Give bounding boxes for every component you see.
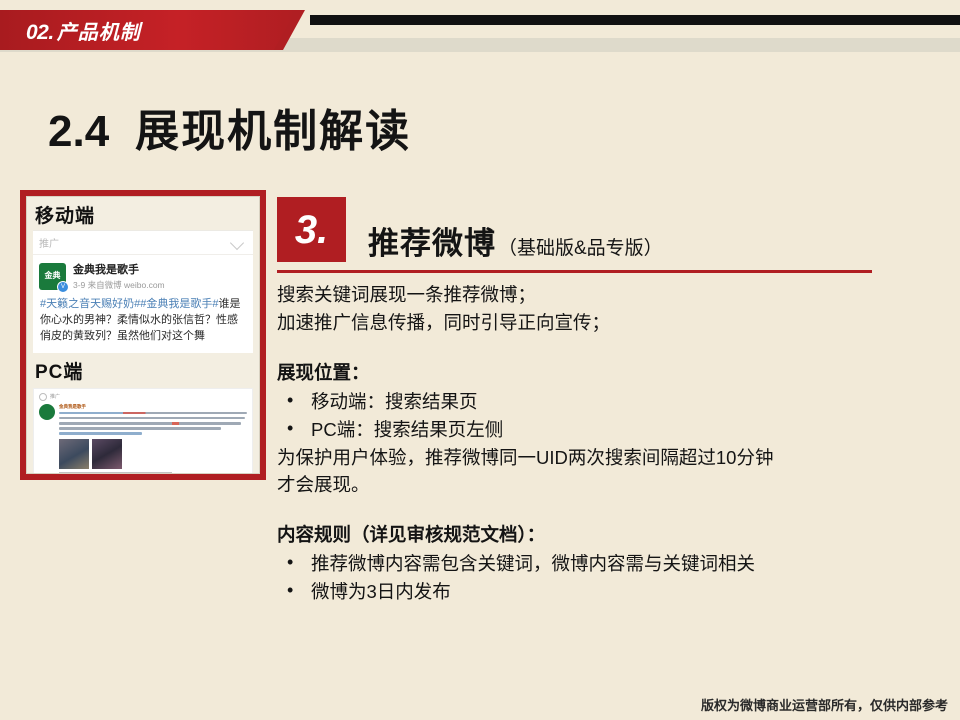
pc-avatar <box>39 404 55 420</box>
position-block-title: 展现位置： <box>277 359 917 385</box>
verified-badge-icon: V <box>57 281 69 293</box>
section-heading: 推荐微博 （基础版&品专版） <box>368 218 663 263</box>
chevron-down-icon <box>230 235 244 249</box>
pc-heading: PC端 <box>27 353 259 386</box>
pc-promo-label: 推广 <box>50 393 60 400</box>
header-label: 02. 产品机制 <box>26 16 141 45</box>
page-title-number: 2.4 <box>48 107 109 157</box>
pc-text-line <box>59 412 247 415</box>
pc-text-line <box>59 427 221 430</box>
section-body: 搜索关键词展现一条推荐微博； 加速推广信息传播，同时引导正向宣传； 展现位置： … <box>277 281 917 606</box>
pc-weibo-card: 推广 金典我是歌手 <box>33 388 253 474</box>
pc-text-line <box>59 422 241 425</box>
promo-dot-icon <box>39 393 47 401</box>
pc-post-row: 金典我是歌手 <box>39 404 247 474</box>
page-title-text: 展现机制解读 <box>135 95 411 159</box>
screenshot-panel: 移动端 推广 金典 V 金典我是歌手 3-9 来自微博 weibo.com #天… <box>20 190 266 480</box>
slide-header: 02. 产品机制 <box>0 0 960 60</box>
header-black-bar <box>310 15 960 25</box>
list-item: PC端：搜索结果页左侧 <box>277 416 917 444</box>
intro-line-2: 加速推广信息传播，同时引导正向宣传； <box>277 309 917 337</box>
pc-post-meta <box>59 472 172 474</box>
page-title: 2.4 展现机制解读 <box>48 95 411 159</box>
section-number: 3. <box>295 210 328 250</box>
mobile-heading: 移动端 <box>27 197 259 230</box>
pc-text-line <box>59 417 245 420</box>
pc-user-name: 金典我是歌手 <box>59 404 247 410</box>
position-note-line-2: 才会展现。 <box>277 471 917 499</box>
list-item: 移动端：搜索结果页 <box>277 388 917 416</box>
mobile-weibo-card: 推广 金典 V 金典我是歌手 3-9 来自微博 weibo.com #天籁之音天… <box>33 230 253 353</box>
list-item: 微博为3日内发布 <box>277 578 917 606</box>
pc-text-line <box>59 432 142 435</box>
mobile-user-row: 金典 V 金典我是歌手 3-9 来自微博 weibo.com <box>33 255 253 293</box>
screenshot-inner: 移动端 推广 金典 V 金典我是歌手 3-9 来自微博 weibo.com #天… <box>26 196 260 474</box>
pc-thumbnail <box>92 439 122 469</box>
pc-post-body: 金典我是歌手 <box>59 404 247 474</box>
mobile-post-text: #天籁之音天赐好奶##金典我是歌手#谁是你心水的男神？柔情似水的张信哲？性感俏皮… <box>33 293 253 353</box>
mobile-user-name: 金典我是歌手 <box>73 261 165 277</box>
footer-copyright: 版权为微博商业运营部所有，仅供内部参考 <box>701 695 948 714</box>
section-divider <box>277 270 872 273</box>
hashtag-1: #天籁之音天赐好奶# <box>40 298 140 310</box>
avatar: 金典 V <box>39 263 66 290</box>
header-title: 产品机制 <box>57 16 141 45</box>
mobile-post-meta: 3-9 来自微博 weibo.com <box>73 279 165 291</box>
section-heading-sub: （基础版&品专版） <box>498 233 663 260</box>
rules-block-title: 内容规则（详见审核规范文档）： <box>277 521 917 547</box>
rules-bullet-list: 推荐微博内容需包含关键词，微博内容需与关键词相关 微博为3日内发布 <box>277 550 917 606</box>
rules-block: 内容规则（详见审核规范文档）： 推荐微博内容需包含关键词，微博内容需与关键词相关… <box>277 521 917 606</box>
section-heading-main: 推荐微博 <box>368 218 496 263</box>
avatar-text: 金典 <box>45 272 61 280</box>
position-note-line-1: 为保护用户体验，推荐微博同一UID两次搜索间隔超过10分钟 <box>277 444 917 472</box>
pc-promo-row: 推广 <box>39 393 247 401</box>
intro-line-1: 搜索关键词展现一条推荐微博； <box>277 281 917 309</box>
pc-thumbnail <box>59 439 89 469</box>
list-item: 推荐微博内容需包含关键词，微博内容需与关键词相关 <box>277 550 917 578</box>
section-number-badge: 3. <box>277 197 346 262</box>
position-block: 展现位置： 移动端：搜索结果页 PC端：搜索结果页左侧 为保护用户体验，推荐微博… <box>277 359 917 499</box>
pc-image-grid <box>59 439 247 469</box>
position-bullet-list: 移动端：搜索结果页 PC端：搜索结果页左侧 <box>277 388 917 444</box>
mobile-promo-row: 推广 <box>33 231 253 255</box>
header-number: 02. <box>26 21 54 45</box>
hashtag-2: #金典我是歌手# <box>140 298 218 310</box>
mobile-promo-label: 推广 <box>39 235 59 250</box>
